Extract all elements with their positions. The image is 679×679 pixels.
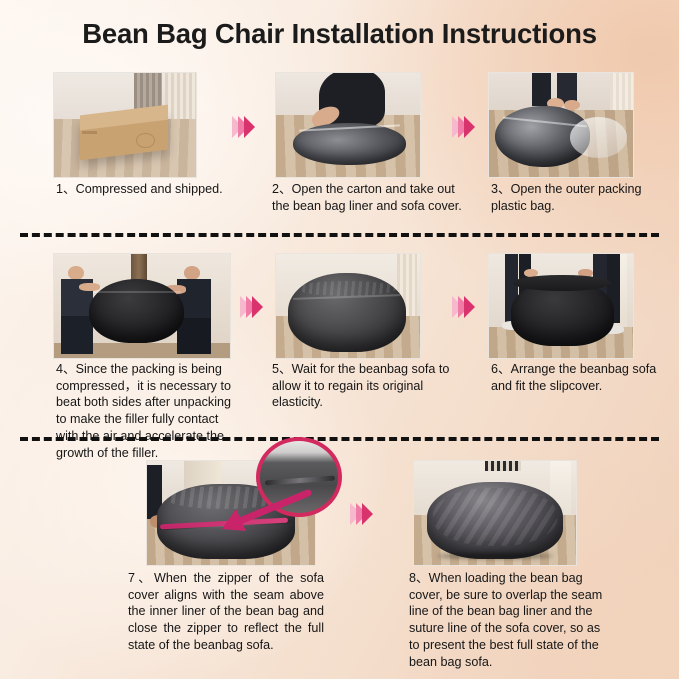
chevron-right-icon [464,116,475,138]
step-8-caption: 8、When loading the bean bag cover, be su… [409,570,609,670]
step-1-image [53,72,197,178]
step-5-image [275,253,421,359]
step-2-caption: 2、Open the carton and take out the bean … [272,181,462,214]
arrow-step-1-to-2 [232,116,250,138]
zipper-detail-line [265,476,335,486]
chevron-right-icon [244,116,255,138]
step-4-image [53,253,231,359]
chevron-right-icon [252,296,263,318]
row-divider-2 [20,437,659,441]
step-2-image [275,72,421,178]
row-divider-1 [20,233,659,237]
step-4-caption: 4、Since the packing is being compressed，… [56,361,244,461]
step-3-caption: 3、Open the outer packing plastic bag. [491,181,671,214]
arrow-step-7-to-8 [350,503,368,525]
step-6-caption: 6、Arrange the beanbag sofa and fit the s… [491,361,673,394]
step-3-image [488,72,634,178]
chevron-right-icon [464,296,475,318]
arrow-step-4-to-5 [240,296,258,318]
chevron-right-icon [362,503,373,525]
step-1-caption: 1、Compressed and shipped. [56,181,236,198]
infographic-page: Bean Bag Chair Installation Instructions [0,0,679,679]
arrow-step-2-to-3 [452,116,470,138]
step-7-caption: 7、When the zipper of the sofa cover alig… [128,570,324,654]
step-6-image [488,253,634,359]
page-title: Bean Bag Chair Installation Instructions [0,18,679,50]
step-8-image [413,460,577,566]
step-5-caption: 5、Wait for the beanbag sofa to allow it … [272,361,464,411]
arrow-step-5-to-6 [452,296,470,318]
callout-arrow-icon [196,487,314,535]
